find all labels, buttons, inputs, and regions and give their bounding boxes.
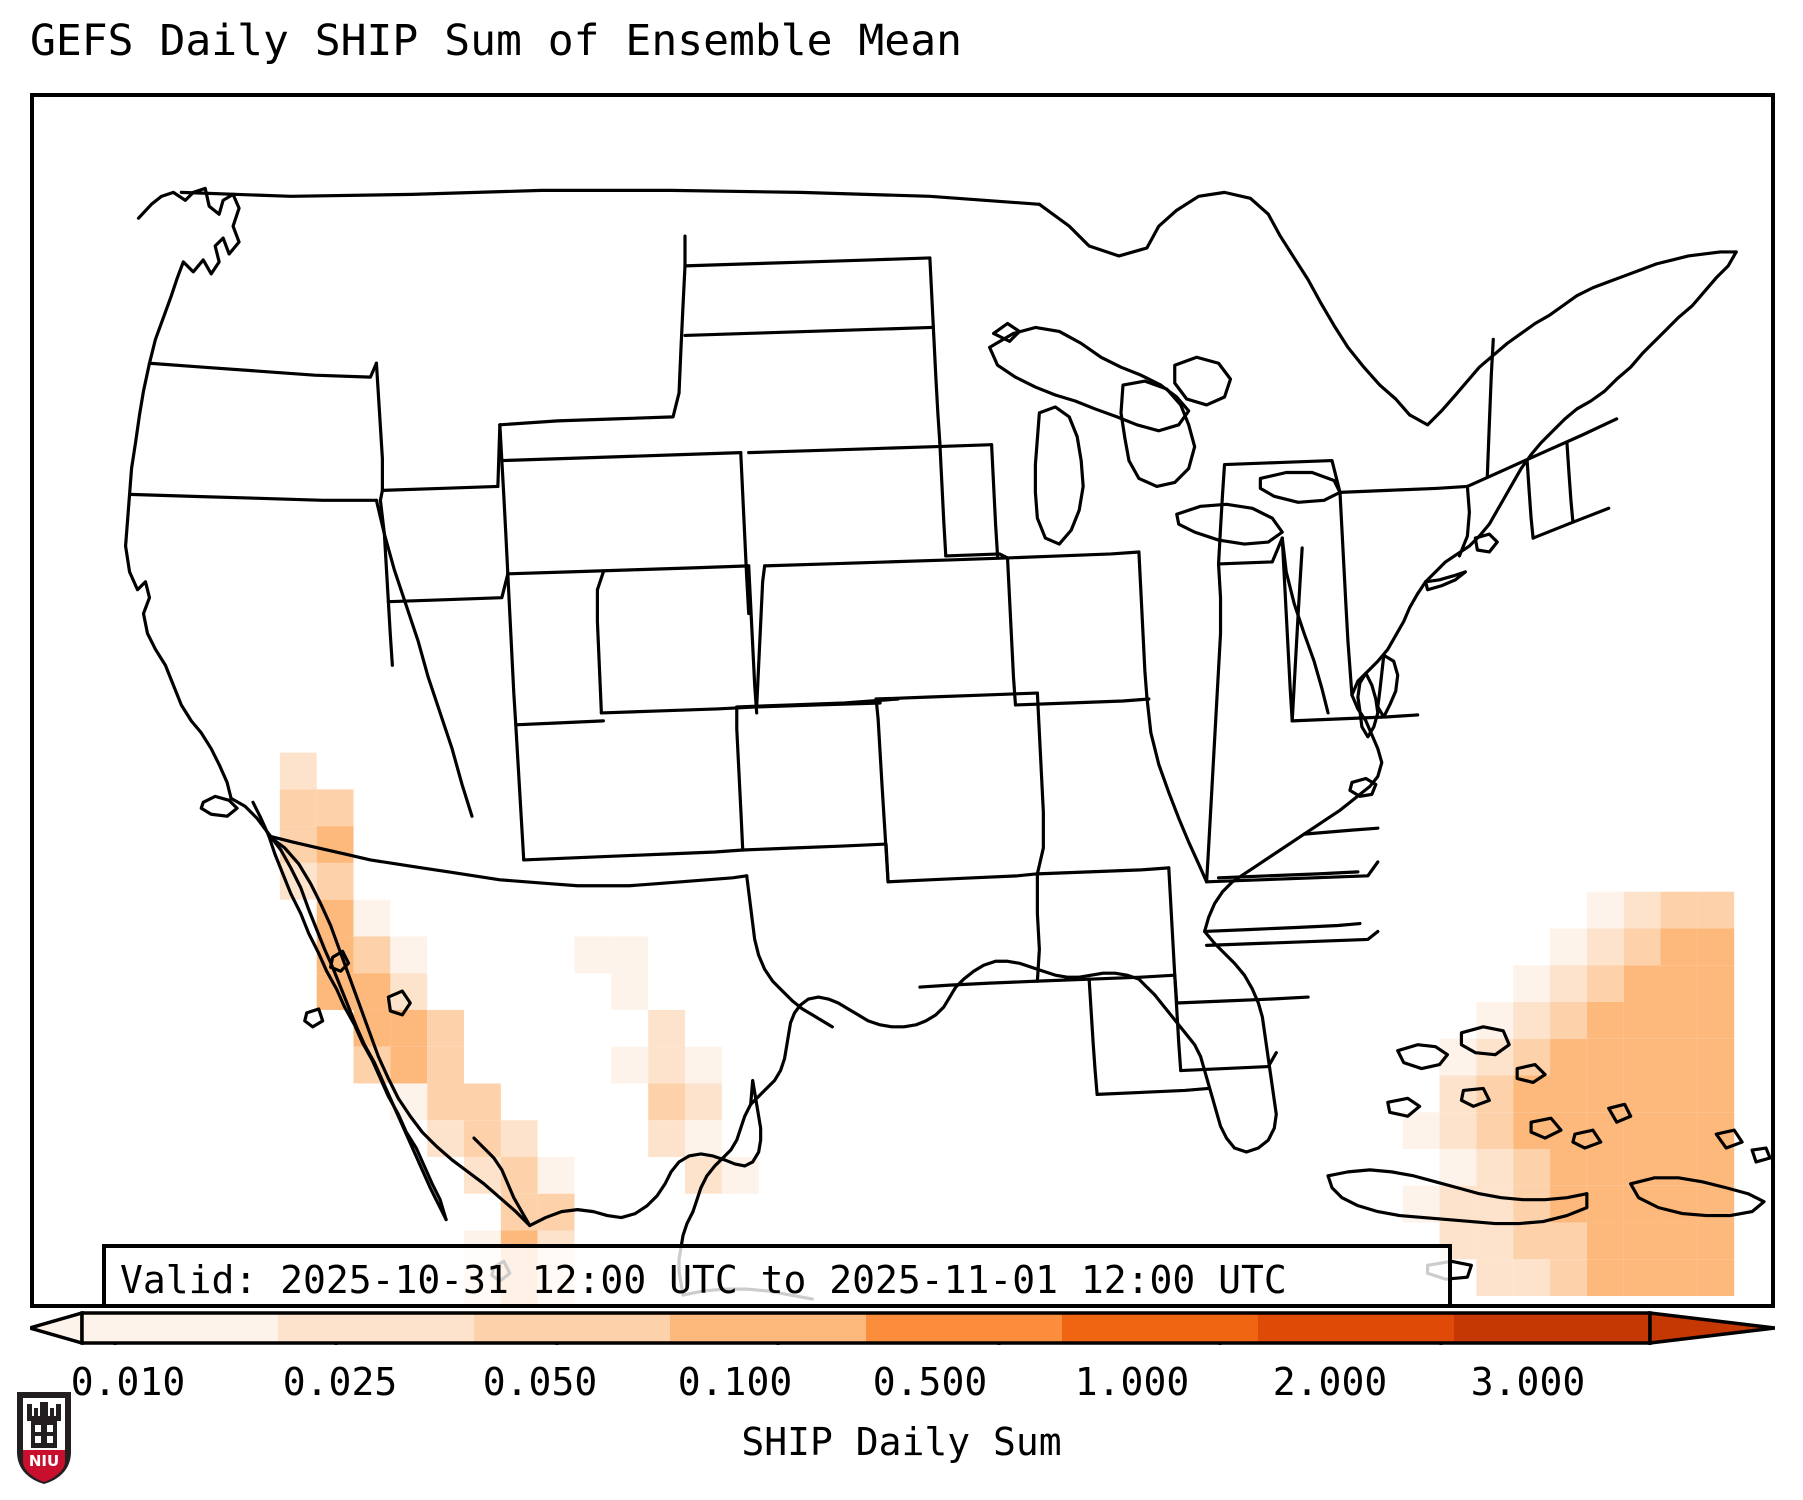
colorbar-extend-min <box>30 1313 82 1343</box>
valid-time-line: Valid: 2025-10-31 12:00 UTC to 2025-11-0… <box>120 1254 1434 1306</box>
forecast-info-box: Valid: 2025-10-31 12:00 UTC to 2025-11-0… <box>102 1244 1452 1308</box>
map-plot-area[interactable]: Valid: 2025-10-31 12:00 UTC to 2025-11-0… <box>30 93 1775 1308</box>
colorbar-segments <box>82 1313 1650 1343</box>
map-canvas <box>34 97 1771 1304</box>
ship-shaded-cells <box>280 753 1734 1304</box>
cbar-tick-6: 2.000 <box>1273 1360 1387 1404</box>
cbar-tick-3: 0.100 <box>678 1360 792 1404</box>
cbar-tick-5: 1.000 <box>1075 1360 1189 1404</box>
colorbar-tick-labels: 0.010 0.025 0.050 0.100 0.500 1.000 2.00… <box>0 1360 1803 1406</box>
colorbar[interactable] <box>30 1311 1775 1345</box>
cbar-tick-7: 3.000 <box>1471 1360 1585 1404</box>
niu-logo-text: NIU <box>29 1452 59 1470</box>
colorbar-svg[interactable] <box>30 1311 1775 1345</box>
cbar-tick-1: 0.025 <box>283 1360 397 1404</box>
cbar-tick-0: 0.010 <box>71 1360 185 1404</box>
colorbar-axis-label: SHIP Daily Sum <box>0 1420 1803 1464</box>
page-title: GEFS Daily SHIP Sum of Ensemble Mean <box>30 16 962 66</box>
cbar-tick-4: 0.500 <box>873 1360 987 1404</box>
niu-logo: NIU <box>14 1390 74 1486</box>
run-time-line: Run: 2025-10-30 00:00 UTC <box>120 1306 1434 1308</box>
cbar-tick-2: 0.050 <box>483 1360 597 1404</box>
colorbar-extend-max <box>1650 1313 1775 1343</box>
